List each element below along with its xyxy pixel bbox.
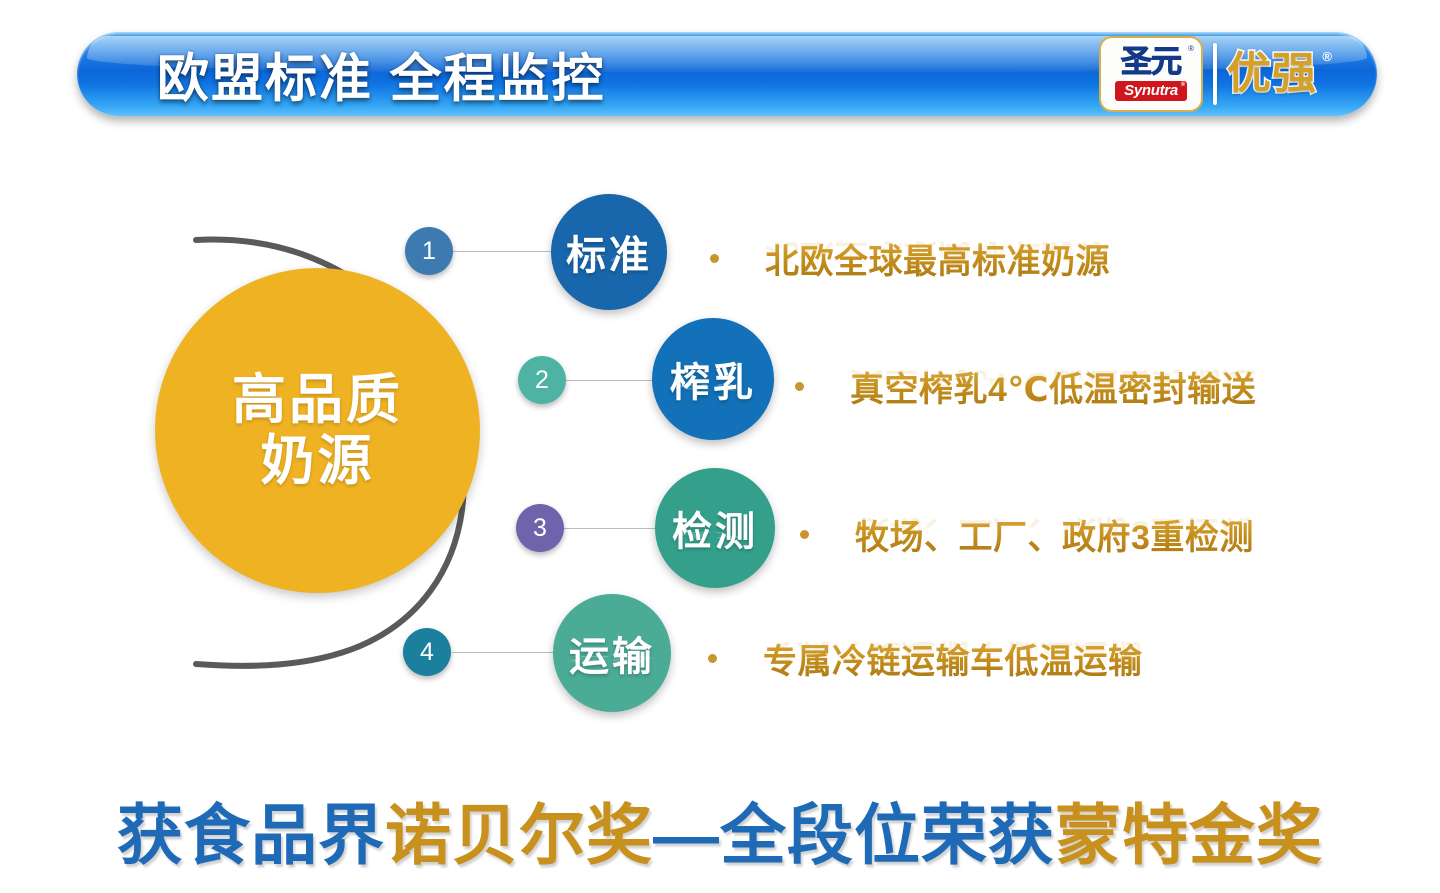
leader-line-2: [565, 380, 665, 381]
step-node-4[interactable]: 运输 运输: [553, 594, 671, 712]
leader-line-3: [563, 528, 668, 529]
brand-logo: ® 圣元 Synutra® 优强 ®: [1099, 36, 1317, 112]
step-description-4-text: 专属冷链运输车低温运输: [763, 634, 1143, 683]
footer-slogan: 获食品界诺贝尔奖—全段位荣获蒙特金奖: [0, 782, 1440, 878]
logo-registered-icon: ®: [1188, 44, 1194, 53]
step-node-3[interactable]: 检测 检测: [655, 468, 775, 588]
step-node-3-label: 检测: [672, 499, 758, 557]
step-description-4: 专属冷链运输车低温运输 专属冷链运输车低温运输: [708, 634, 1143, 683]
step-badge-3-number: 3: [533, 516, 547, 541]
step-node-1[interactable]: 标准 标准: [551, 194, 667, 310]
logo-subbrand-registered-icon: ®: [1322, 50, 1333, 63]
step-badge-1[interactable]: 1: [405, 227, 453, 275]
leader-line-4: [452, 652, 567, 653]
step-description-2: 真空榨乳4℃低温密封输送 真空榨乳4℃低温密封输送: [795, 362, 1256, 411]
step-description-3: 牧场、工厂、政府3重检测 牧场、工厂、政府3重检测: [800, 510, 1254, 559]
hub-circle: 高品质 奶源: [155, 268, 480, 593]
logo-en-registered-icon: ®: [1181, 82, 1185, 89]
step-badge-4-number: 4: [420, 640, 434, 665]
hub-label-line1: 高品质: [232, 370, 403, 430]
step-node-2[interactable]: 榨乳 榨乳: [652, 318, 774, 440]
step-badge-3[interactable]: 3: [516, 504, 564, 552]
logo-subbrand: 优强 ®: [1227, 52, 1317, 96]
footer-part-4: 蒙特金奖: [1055, 798, 1323, 872]
footer-part-2: 诺贝尔奖: [385, 798, 653, 872]
logo-subbrand-text: 优强: [1227, 49, 1317, 98]
bullet-dot-4-icon: [708, 654, 717, 663]
footer-part-3: —全段位荣获: [653, 798, 1055, 872]
step-node-1-label: 标准: [566, 223, 652, 281]
logo-primary-box: ® 圣元 Synutra®: [1099, 36, 1203, 112]
step-badge-2[interactable]: 2: [518, 356, 566, 404]
logo-english-text: Synutra: [1124, 82, 1178, 99]
footer-part-1: 获食品界: [117, 798, 385, 872]
step-description-2-text: 真空榨乳4℃低温密封输送: [850, 362, 1256, 411]
step-node-4-label: 运输: [569, 624, 655, 682]
logo-chinese-name: 圣元: [1121, 46, 1181, 77]
hub-label-line2: 奶源: [261, 431, 375, 491]
step-badge-2-number: 2: [535, 368, 549, 393]
logo-separator: [1213, 43, 1217, 105]
bullet-dot-2-icon: [795, 382, 804, 391]
page-title: 欧盟标准 全程监控: [157, 37, 605, 112]
process-diagram: 高品质 奶源 1 2 3 4 标准 标准 榨乳 榨乳 检测 检测 运输 运输 北…: [0, 150, 1440, 750]
bullet-dot-3-icon: [800, 530, 809, 539]
step-description-1: 北欧全球最高标准奶源 北欧全球最高标准奶源: [710, 234, 1110, 283]
logo-english-name: Synutra®: [1115, 81, 1187, 101]
step-description-3-text: 牧场、工厂、政府3重检测: [855, 510, 1254, 559]
leader-line-1: [452, 251, 562, 252]
step-badge-4[interactable]: 4: [403, 628, 451, 676]
step-badge-1-number: 1: [422, 239, 436, 264]
step-description-1-text: 北欧全球最高标准奶源: [765, 234, 1110, 283]
header-banner: 欧盟标准 全程监控 ® 圣元 Synutra® 优强 ®: [77, 32, 1377, 116]
step-node-2-label: 榨乳: [670, 350, 756, 408]
bullet-dot-1-icon: [710, 254, 719, 263]
